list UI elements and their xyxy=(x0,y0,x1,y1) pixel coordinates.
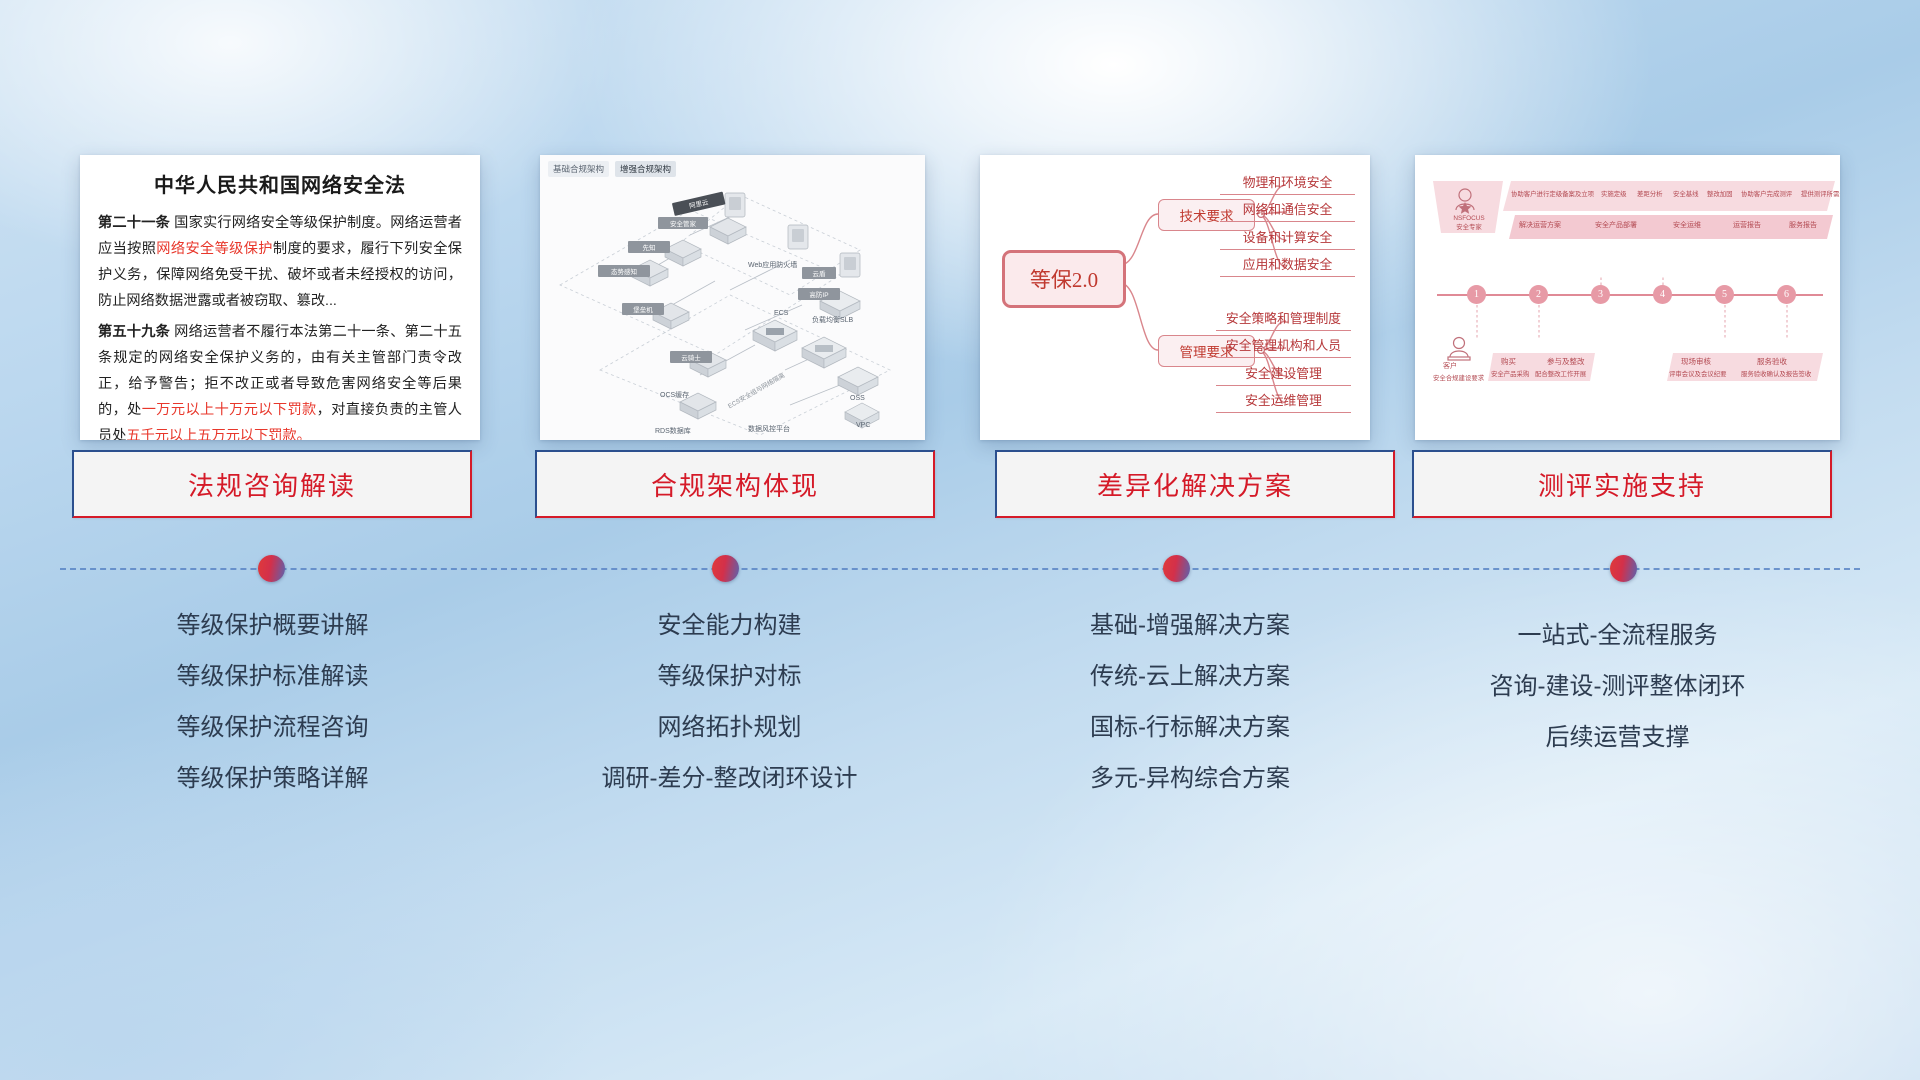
process-bottom-tag-review: 现场审核 xyxy=(1681,358,1711,366)
process-bottom-sub-acceptance: 服务验收确认及报告签收 xyxy=(1741,371,1811,379)
list-item: 传统-云上解决方案 xyxy=(980,651,1400,702)
list-item: 多元-异构综合方案 xyxy=(980,753,1400,804)
svg-text:态势感知: 态势感知 xyxy=(611,267,637,276)
timeline-dot-4[interactable] xyxy=(1610,555,1637,582)
process-top-tag-3: 差距分析 xyxy=(1637,191,1663,199)
card-dengbao-mindmap[interactable]: 等保2.0 技术要求 管理要求 物理和环境安全 网络和通信安全 设备和计算安全 … xyxy=(980,155,1370,440)
process-step-number-5: 5 xyxy=(1715,285,1734,304)
section-list-4: 一站式-全流程服务 咨询-建设-测评整体闭环 后续运营支撑 xyxy=(1405,610,1830,763)
section-header-4-label: 测评实施支持 xyxy=(1538,466,1706,503)
process-customer-label: 客户 xyxy=(1443,363,1457,371)
list-item: 国标-行标解决方案 xyxy=(980,702,1400,753)
process-step-tag-5: 服务报告 xyxy=(1789,222,1817,230)
svg-text:ECS: ECS xyxy=(774,310,789,317)
process-top-tag-5: 整改加固 xyxy=(1707,191,1733,199)
mindmap-leaf-application: 应用和数据安全 xyxy=(1220,257,1355,277)
process-customer-sub: 安全合规建设要求 xyxy=(1433,375,1484,383)
process-step-tag-3: 安全运维 xyxy=(1673,222,1701,230)
card-cybersecurity-law[interactable]: 中华人民共和国网络安全法 第二十一条 国家实行网络安全等级保护制度。网络运营者应… xyxy=(80,155,480,440)
article-21-highlight: 网络安全等级保护 xyxy=(156,241,273,257)
list-item: 等级保护对标 xyxy=(527,651,932,702)
section-header-3[interactable]: 差异化解决方案 xyxy=(995,450,1395,518)
list-item: 后续运营支撑 xyxy=(1405,712,1830,763)
process-expert-name: NSFOCUS xyxy=(1439,215,1499,223)
svg-text:VPC: VPC xyxy=(856,422,870,429)
process-bottom-tag-acceptance: 服务验收 xyxy=(1757,358,1787,366)
section-header-2[interactable]: 合规架构体现 xyxy=(535,450,935,518)
svg-text:OCS缓存: OCS缓存 xyxy=(660,390,689,399)
mindmap-leaf-physical: 物理和环境安全 xyxy=(1220,175,1355,195)
architecture-diagram: 基础合规架构 增强合规架构 xyxy=(540,155,925,440)
section-list-2: 安全能力构建 等级保护对标 网络拓扑规划 调研-差分-整改闭环设计 xyxy=(527,600,932,804)
svg-text:云盾: 云盾 xyxy=(813,270,827,278)
architecture-svg: 阿里云 安全管家 先知 态势感知 堡垒机 云骑士 云盾 xyxy=(540,155,925,440)
process-bottom-sub-purchase: 安全产品采购 xyxy=(1491,371,1529,379)
article-59-highlight-1: 一万元以上十万元以下罚款 xyxy=(142,402,317,418)
process-top-tag-7: 提供测评所需全部文档及证明材料 xyxy=(1801,191,1840,199)
process-bottom-sub-review: 评审会议及会议纪要 xyxy=(1669,371,1727,379)
list-item: 咨询-建设-测评整体闭环 xyxy=(1405,661,1830,712)
list-item: 调研-差分-整改闭环设计 xyxy=(527,753,932,804)
section-list-1: 等级保护概要讲解 等级保护标准解读 等级保护流程咨询 等级保护策略详解 xyxy=(70,600,475,804)
list-item: 基础-增强解决方案 xyxy=(980,600,1400,651)
section-list-3: 基础-增强解决方案 传统-云上解决方案 国标-行标解决方案 多元-异构综合方案 xyxy=(980,600,1400,804)
process-diagram: NSFOCUS 安全专家 协助客户进行定级备案及立项 实施定级 差距分析 安全基… xyxy=(1415,155,1840,440)
timeline-dot-3[interactable] xyxy=(1163,555,1190,582)
process-top-tag-2: 实施定级 xyxy=(1601,191,1627,199)
svg-text:RDS数据库: RDS数据库 xyxy=(655,426,691,435)
mindmap-leaf-network: 网络和通信安全 xyxy=(1220,202,1355,222)
article-59-label: 第五十九条 xyxy=(98,324,170,340)
law-article-59: 第五十九条 网络运营者不履行本法第二十一条、第二十五条规定的网络安全保护义务的，… xyxy=(98,319,462,440)
slide-canvas: 中华人民共和国网络安全法 第二十一条 国家实行网络安全等级保护制度。网络运营者应… xyxy=(0,0,1920,1080)
svg-text:Web应用防火墙: Web应用防火墙 xyxy=(748,260,797,269)
section-header-3-label: 差异化解决方案 xyxy=(1097,466,1293,503)
mindmap-leaf-org: 安全管理机构和人员 xyxy=(1216,338,1351,358)
law-content: 中华人民共和国网络安全法 第二十一条 国家实行网络安全等级保护制度。网络运营者应… xyxy=(80,155,480,440)
section-header-1-label: 法规咨询解读 xyxy=(188,466,356,503)
timeline-dot-2[interactable] xyxy=(712,555,739,582)
svg-text:高防IP: 高防IP xyxy=(809,290,828,299)
process-step-number-3: 3 xyxy=(1591,285,1610,304)
process-top-tag-4: 安全基线 xyxy=(1673,191,1699,199)
card-nsfocus-process[interactable]: NSFOCUS 安全专家 协助客户进行定级备案及立项 实施定级 差距分析 安全基… xyxy=(1415,155,1840,440)
process-step-tag-1: 解决运营方案 xyxy=(1519,222,1561,230)
mindmap-leaf-ops: 安全运维管理 xyxy=(1216,393,1351,413)
list-item: 等级保护流程咨询 xyxy=(70,702,475,753)
card-compliance-architecture[interactable]: 基础合规架构 增强合规架构 xyxy=(540,155,925,440)
list-item: 等级保护概要讲解 xyxy=(70,600,475,651)
list-item: 安全能力构建 xyxy=(527,600,932,651)
mindmap-root: 等保2.0 xyxy=(1002,250,1126,308)
law-title: 中华人民共和国网络安全法 xyxy=(98,169,462,198)
process-step-number-1: 1 xyxy=(1467,285,1486,304)
process-step-number-6: 6 xyxy=(1777,285,1796,304)
list-item: 网络拓扑规划 xyxy=(527,702,932,753)
process-top-tag-6: 协助客户完成测评 xyxy=(1741,191,1792,199)
svg-text:ECS安全组与网络隔离: ECS安全组与网络隔离 xyxy=(726,370,786,410)
svg-text:OSS: OSS xyxy=(850,395,865,402)
process-step-tag-2: 安全产品部署 xyxy=(1595,222,1637,230)
process-top-tag-1: 协助客户进行定级备案及立项 xyxy=(1511,191,1594,199)
section-header-1[interactable]: 法规咨询解读 xyxy=(72,450,472,518)
svg-text:负载均衡SLB: 负载均衡SLB xyxy=(812,315,854,324)
article-21-label: 第二十一条 xyxy=(98,215,170,231)
list-item: 等级保护策略详解 xyxy=(70,753,475,804)
mindmap-leaf-build: 安全建设管理 xyxy=(1216,366,1351,386)
svg-text:数据风控平台: 数据风控平台 xyxy=(748,424,790,433)
process-step-number-4: 4 xyxy=(1653,285,1672,304)
process-expert-role: 安全专家 xyxy=(1439,224,1499,232)
preview-cards-row: 中华人民共和国网络安全法 第二十一条 国家实行网络安全等级保护制度。网络运营者应… xyxy=(0,0,1920,440)
article-59-highlight-2: 五千元以上五万元以下罚款。 xyxy=(126,428,310,440)
process-step-number-2: 2 xyxy=(1529,285,1548,304)
timeline-dashed-line xyxy=(60,568,1860,570)
process-bottom-sub-participate: 配合整改工作开展 xyxy=(1535,371,1586,379)
svg-text:云骑士: 云骑士 xyxy=(681,353,701,362)
svg-text:先知: 先知 xyxy=(643,243,656,252)
mindmap-leaf-device: 设备和计算安全 xyxy=(1220,230,1355,250)
mindmap: 等保2.0 技术要求 管理要求 物理和环境安全 网络和通信安全 设备和计算安全 … xyxy=(980,155,1370,440)
svg-text:安全管家: 安全管家 xyxy=(670,219,697,228)
process-bottom-tag-participate: 参与及整改 xyxy=(1547,358,1585,366)
list-item: 等级保护标准解读 xyxy=(70,651,475,702)
process-step-tag-4: 运营报告 xyxy=(1733,222,1761,230)
section-header-2-label: 合规架构体现 xyxy=(651,466,819,503)
process-bottom-tag-purchase: 购买 xyxy=(1501,358,1516,366)
law-article-21: 第二十一条 国家实行网络安全等级保护制度。网络运营者应当按照网络安全等级保护制度… xyxy=(98,210,462,314)
section-header-4[interactable]: 测评实施支持 xyxy=(1412,450,1832,518)
timeline-dot-1[interactable] xyxy=(258,555,285,582)
svg-text:堡垒机: 堡垒机 xyxy=(633,305,653,314)
list-item: 一站式-全流程服务 xyxy=(1405,610,1830,661)
mindmap-leaf-policy: 安全策略和管理制度 xyxy=(1216,311,1351,331)
